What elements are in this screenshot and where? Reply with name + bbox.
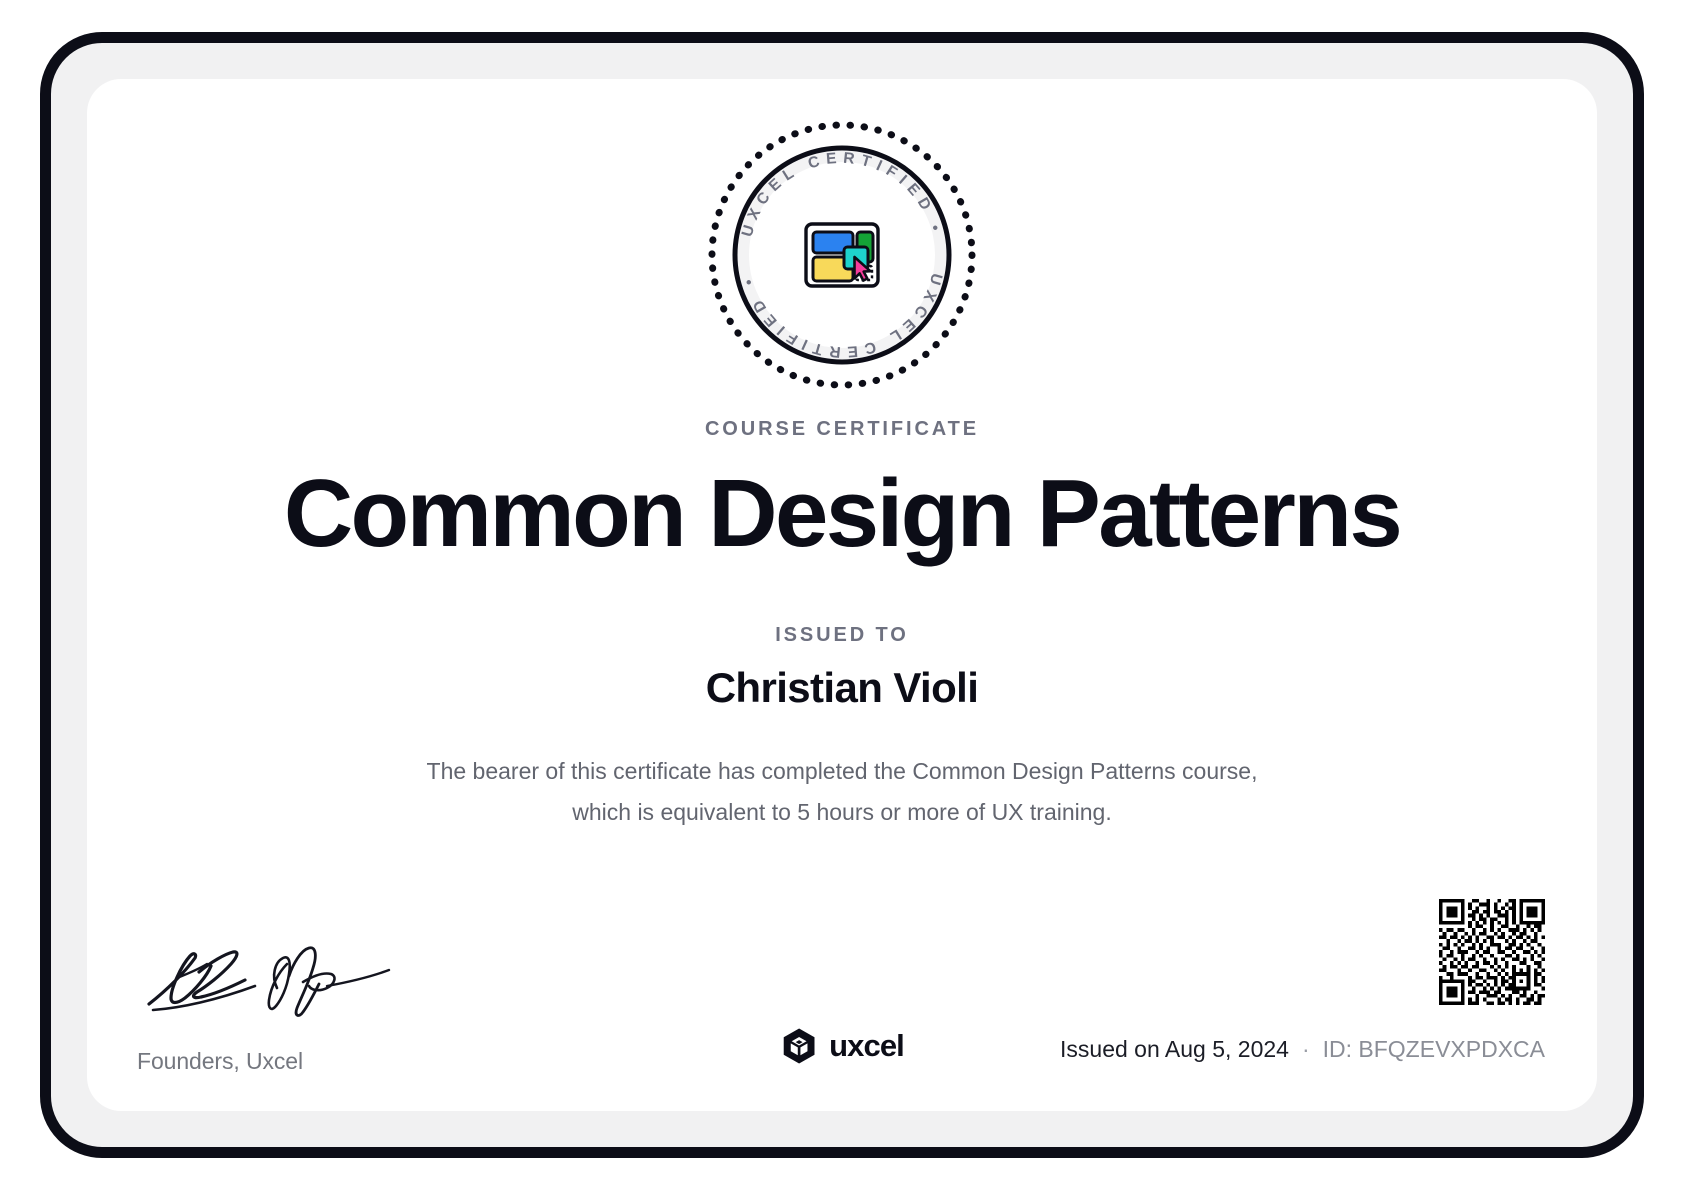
- uxcel-logo-icon: [780, 1027, 818, 1065]
- certificate-frame: UXCEL CERTIFIED • UXCEL CERTIFIED •: [40, 32, 1644, 1158]
- issued-date: Issued on Aug 5, 2024: [1060, 1036, 1289, 1063]
- seal-graphic: UXCEL CERTIFIED • UXCEL CERTIFIED •: [706, 119, 978, 391]
- meta-separator: ·: [1302, 1036, 1310, 1063]
- qr-code-icon[interactable]: [1439, 899, 1545, 1005]
- founders-label: Founders, Uxcel: [137, 1048, 557, 1075]
- signature-block: Founders, Uxcel: [137, 942, 557, 1075]
- design-patterns-layout-icon: [806, 224, 878, 286]
- certificate-description: The bearer of this certificate has compl…: [412, 751, 1272, 833]
- certificate-card: UXCEL CERTIFIED • UXCEL CERTIFIED •: [87, 79, 1597, 1111]
- founders-signature-icon: [137, 942, 427, 1028]
- eyebrow-issued-to: ISSUED TO: [87, 624, 1597, 647]
- uxcel-wordmark: uxcel: [829, 1028, 904, 1064]
- page-title: Common Design Patterns: [87, 456, 1597, 572]
- uxcel-certified-seal: UXCEL CERTIFIED • UXCEL CERTIFIED •: [706, 119, 978, 391]
- eyebrow-course-certificate: COURSE CERTIFICATE: [87, 418, 1597, 441]
- uxcel-brand-logo: uxcel: [780, 1027, 904, 1065]
- recipient-name: Christian Violi: [87, 661, 1597, 715]
- certificate-qr-code[interactable]: [1439, 899, 1545, 1005]
- certificate-meta: Issued on Aug 5, 2024 · ID: BFQZEVXPDXCA: [1060, 1036, 1545, 1063]
- certificate-id: ID: BFQZEVXPDXCA: [1323, 1036, 1545, 1063]
